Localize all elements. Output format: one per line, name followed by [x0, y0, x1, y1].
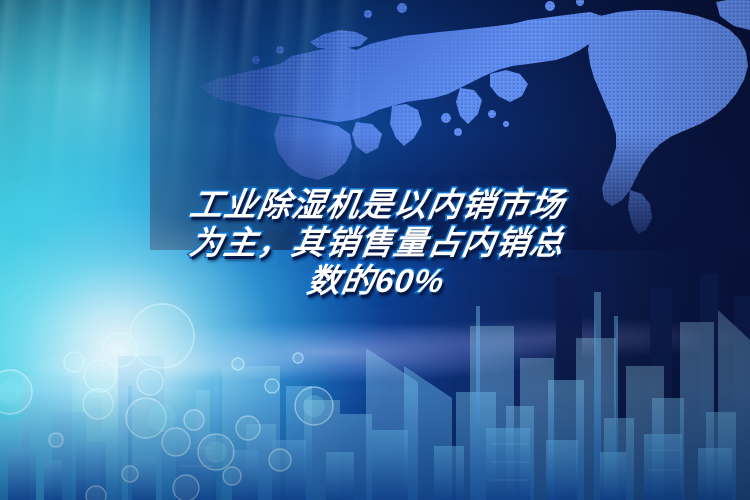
- headline-block: 工业除湿机是以内销市场 为主，其销售量占内销总 数的60%: [0, 186, 750, 300]
- headline-line-2: 为主，其销售量占内销总: [1, 224, 750, 262]
- poster-canvas: 工业除湿机是以内销市场 为主，其销售量占内销总 数的60%: [0, 0, 750, 500]
- headline-line-1: 工业除湿机是以内销市场: [1, 186, 750, 224]
- headline-line-3: 数的60%: [0, 262, 750, 300]
